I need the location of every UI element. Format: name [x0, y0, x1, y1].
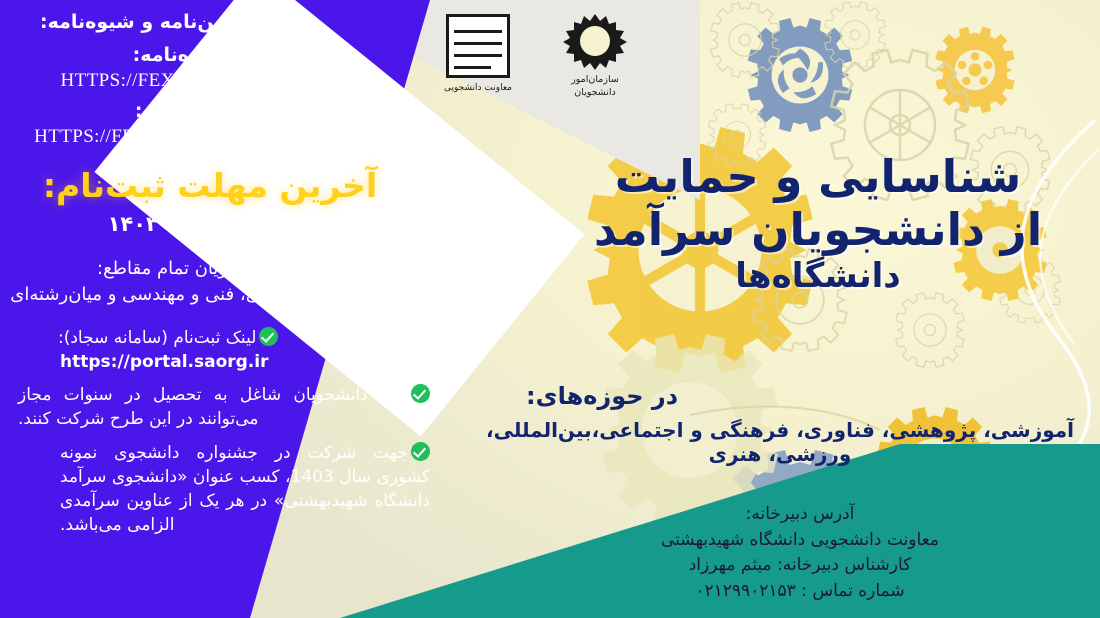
shahid-beheshti-university-logo: معاونت دانشجویی [430, 14, 526, 93]
method-label: شیوه‌نامه: [20, 44, 340, 66]
regulation-url-link[interactable]: HTTPS://FEX.NET/S/DL3PFV4 [0, 126, 330, 148]
regulation-label: آیین نامه: [20, 100, 340, 122]
list-item: کلیه دانشجویان شاغل به تحصیل در سنوات مج… [18, 383, 430, 431]
university-seal-icon [446, 14, 510, 78]
list-item: جهت شرکت در جشنواره دانشجوی نمونه کشوری … [60, 441, 430, 538]
check-icon [259, 327, 278, 346]
check-icon [411, 384, 430, 403]
title-line-3: دانشگاه‌ها [548, 256, 1088, 296]
method-url-link[interactable]: HTTPS://FEX.NET/S/XSK1 [10, 70, 340, 92]
bullet-2-text: کلیه دانشجویان شاغل به تحصیل در سنوات مج… [18, 385, 408, 429]
title-line-1: شناسایی و حمایت [548, 150, 1088, 203]
poster-canvas: معاونت دانشجویی سازمان‌امور دانشجویان در… [0, 0, 1100, 618]
organization-caption-line2: دانشجویان [540, 87, 650, 100]
scope-title: شامل دانشجویان تمام مقاطع: [0, 258, 420, 279]
list-item: لینک ثبت‌نام (سامانه سجاد): https://port… [30, 326, 430, 374]
scope-list: علوم پایه، علوم انسانی، فنی و مهندسی و م… [0, 284, 430, 305]
page-title: شناسایی و حمایت از دانشجویان سرآمد دانشگ… [548, 150, 1088, 296]
bullet-1-line-1: لینک ثبت‌نام (سامانه سجاد): [58, 328, 256, 348]
bullet-list: لینک ثبت‌نام (سامانه سجاد): https://port… [0, 326, 430, 546]
secretariat-line-2: کارشناس دبیرخانه: میثم مهرزاد [520, 553, 1080, 579]
secretariat-line-1: معاونت دانشجویی دانشگاه شهیدبهشتی [520, 528, 1080, 554]
gear-icon [748, 18, 853, 132]
secretariat-heading: آدرس دبیرخانه: [520, 502, 1080, 528]
university-logo-caption: معاونت دانشجویی [430, 83, 526, 93]
bullet-3-text: جهت شرکت در جشنواره دانشجوی نمونه کشوری … [60, 443, 430, 535]
organization-emblem-icon [559, 10, 631, 72]
logo-group: معاونت دانشجویی سازمان‌امور دانشجویان [430, 8, 660, 113]
deadline-date: ۱۵ مهرماه ۱۴۰۳ [0, 212, 380, 236]
title-line-2: از دانشجویان سرآمد [548, 203, 1088, 256]
secretariat-block: آدرس دبیرخانه: معاونت دانشجویی دانشگاه ش… [520, 502, 1080, 604]
fields-label: در حوزه‌های: [526, 382, 1086, 410]
student-affairs-organization-logo: سازمان‌امور دانشجویان [540, 10, 650, 100]
downloads-heading: دریافت آیین‌نامه و شیوه‌نامه: [10, 10, 340, 36]
check-icon [411, 442, 430, 461]
gear-icon [935, 27, 1014, 113]
organization-caption-line1: سازمان‌امور [540, 74, 650, 87]
registration-portal-link[interactable]: https://portal.saorg.ir [30, 350, 430, 374]
deadline-title: آخرین مهلت ثبت‌نام: [0, 166, 420, 205]
organization-logo-caption: سازمان‌امور دانشجویان [540, 74, 650, 100]
secretariat-phone: شماره تماس : ۰۲۱۲۹۹۰۲۱۵۳ [520, 579, 1080, 605]
fields-list: آموزشی، پژوهشی، فناوری، فرهنگی و اجتماعی… [470, 418, 1090, 466]
